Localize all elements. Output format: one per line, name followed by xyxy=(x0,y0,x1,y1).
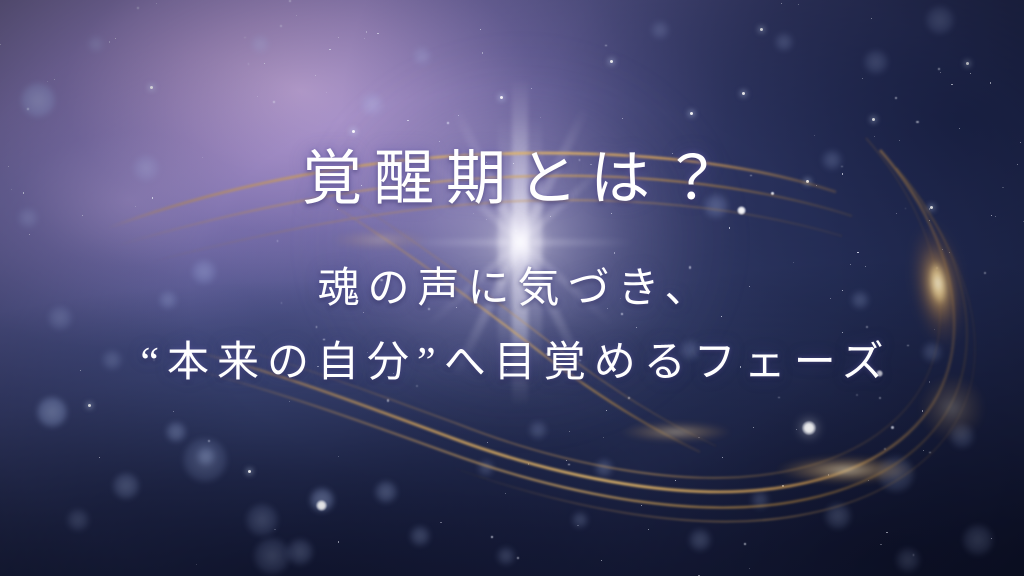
arc-sparkle-large-glow xyxy=(799,418,819,438)
arc-sparkle-bottom xyxy=(316,500,327,511)
slide-canvas: 覚醒期とは？ 魂の声に気づき、 “本来の自分”へ目覚めるフェーズ xyxy=(0,0,1024,576)
subtitle-line-2: “本来の自分”へ目覚めるフェーズ xyxy=(0,336,1024,390)
subtitle-line-1: 魂の声に気づき、 xyxy=(0,262,1024,316)
page-title: 覚醒期とは？ xyxy=(0,142,1024,216)
